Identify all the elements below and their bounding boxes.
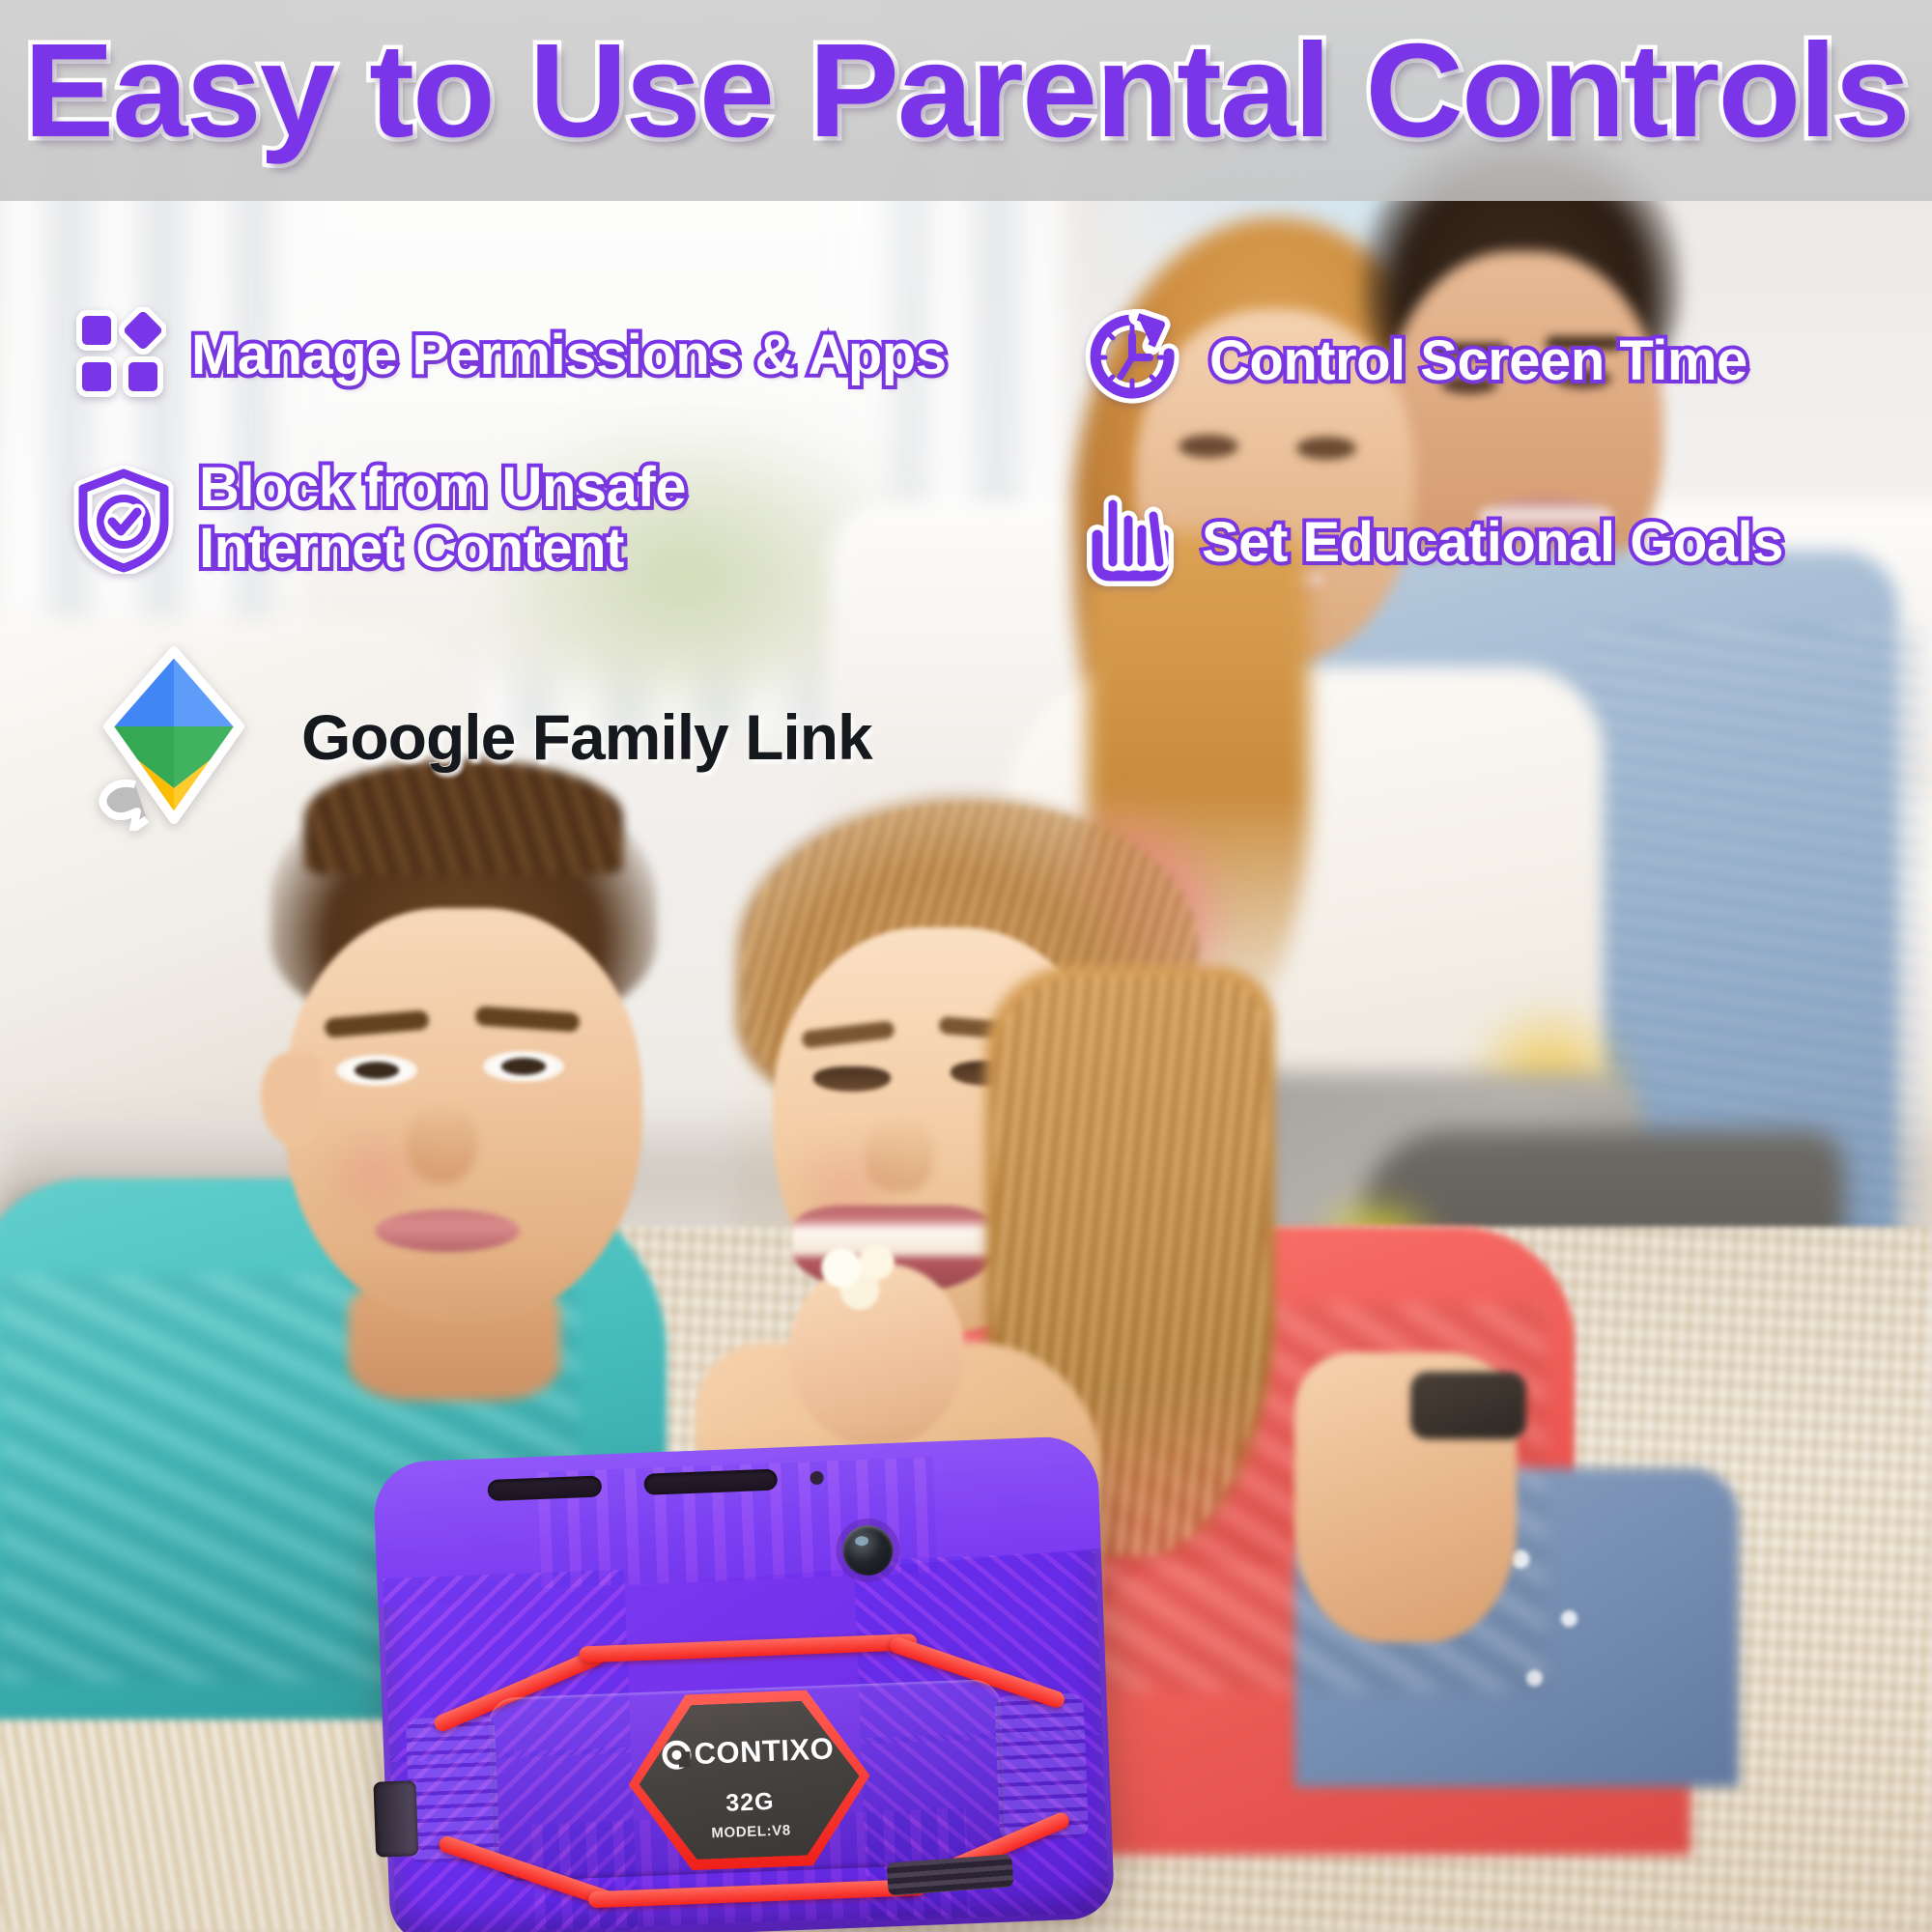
boy-lips xyxy=(375,1209,520,1252)
feature-label: Block from Unsafe Internet Content xyxy=(199,458,686,579)
contixo-tablet: CONTIXO 32G MODEL:V8 xyxy=(373,1435,1116,1932)
brand-name: CONTIXO xyxy=(694,1731,835,1772)
boy-eye-right xyxy=(483,1051,564,1082)
feature-label: Set Educational Goals xyxy=(1202,513,1783,574)
page-title: Easy to Use Parental Controls xyxy=(0,23,1932,159)
woman-eye-left xyxy=(1179,435,1238,458)
boy-nose xyxy=(406,1109,477,1184)
contixo-badge: CONTIXO 32G MODEL:V8 xyxy=(625,1688,873,1872)
woman-eye-right xyxy=(1296,437,1356,460)
wrist-watch xyxy=(1410,1372,1526,1439)
tablet-case: CONTIXO 32G MODEL:V8 xyxy=(373,1435,1116,1932)
brand-lockup: CONTIXO xyxy=(627,1730,869,1775)
feature-control-screen-time: Control Screen Time xyxy=(1084,309,1747,414)
contixo-c-mark-icon xyxy=(662,1740,692,1770)
feature-label: Control Screen Time xyxy=(1209,331,1747,392)
popcorn xyxy=(813,1238,906,1312)
feature-set-educational-goals: Set Educational Goals xyxy=(1084,491,1783,596)
girl-nose xyxy=(866,1121,933,1192)
model-number: MODEL:V8 xyxy=(630,1819,871,1845)
boy-ear xyxy=(261,1053,321,1146)
product-feature-image: CONTIXO 32G MODEL:V8 Easy to Use Parenta… xyxy=(0,0,1932,1932)
shield-check-icon xyxy=(73,466,174,579)
bar-chart-icon xyxy=(1084,491,1177,596)
tablet-side-port xyxy=(373,1780,418,1858)
storage-capacity: 32G xyxy=(629,1784,871,1822)
girl-eye-left xyxy=(813,1066,891,1092)
badge-text-group: CONTIXO 32G MODEL:V8 xyxy=(625,1688,873,1872)
boy-eye-left xyxy=(336,1055,417,1086)
feature-label: Manage Permissions & Apps xyxy=(191,326,946,386)
feature-block-unsafe-content: Block from Unsafe Internet Content xyxy=(73,466,686,579)
clock-restore-icon xyxy=(1084,309,1184,414)
partner-name: Google Family Link xyxy=(301,700,872,774)
google-family-link-kite-icon xyxy=(77,638,270,836)
feature-manage-permissions: Manage Permissions & Apps xyxy=(73,307,946,405)
apps-grid-icon xyxy=(73,307,166,405)
google-family-link-badge: Google Family Link xyxy=(77,638,872,836)
tablet-vent-left xyxy=(487,1476,602,1502)
